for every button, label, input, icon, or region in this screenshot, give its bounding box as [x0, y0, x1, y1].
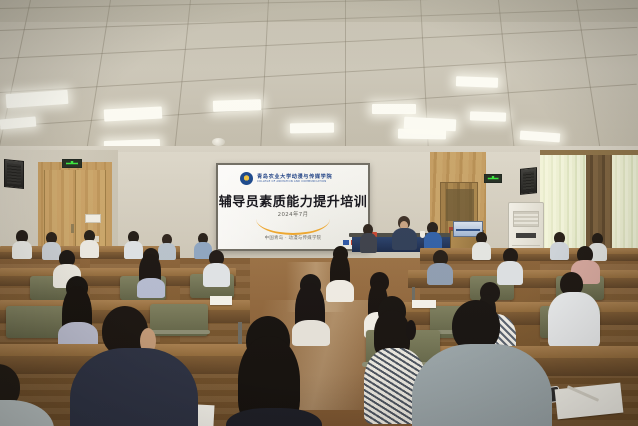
university-crest-icon — [240, 172, 253, 185]
exit-sign-left-icon — [62, 159, 82, 168]
ceiling-light — [470, 111, 506, 121]
chair-arm — [148, 330, 210, 334]
exit-sign-right-icon — [484, 174, 502, 183]
speaker-right-icon — [520, 167, 537, 195]
ceiling-light — [213, 99, 261, 112]
ceiling-light — [6, 90, 69, 108]
ceiling-light — [520, 131, 561, 143]
smoke-detector-icon — [212, 138, 225, 146]
speaker-left-icon — [4, 159, 24, 189]
projection-screen: 青岛农业大学动漫与传媒学院 COLLEGE OF ANIMATION AND C… — [216, 163, 370, 251]
slide-date: 2024年7月 — [218, 210, 368, 218]
ceiling-light — [372, 104, 416, 114]
slide-organization-sub: COLLEGE OF ANIMATION AND COMMUNICATION — [257, 180, 326, 183]
ceiling-light — [104, 106, 163, 121]
notebook — [210, 296, 232, 305]
slide-icon-blue — [343, 240, 349, 245]
photo-scene: 青岛农业大学动漫与传媒学院 COLLEGE OF ANIMATION AND C… — [0, 0, 638, 426]
notebook — [412, 300, 436, 308]
ceiling — [0, 0, 638, 152]
ceiling-light — [456, 76, 498, 87]
slide-organization: 青岛农业大学动漫与传媒学院 — [257, 173, 332, 180]
slide-title: 辅导员素质能力提升培训 — [218, 191, 368, 210]
chair — [6, 306, 64, 338]
ceiling-light — [0, 116, 36, 129]
ceiling-light — [290, 123, 334, 134]
